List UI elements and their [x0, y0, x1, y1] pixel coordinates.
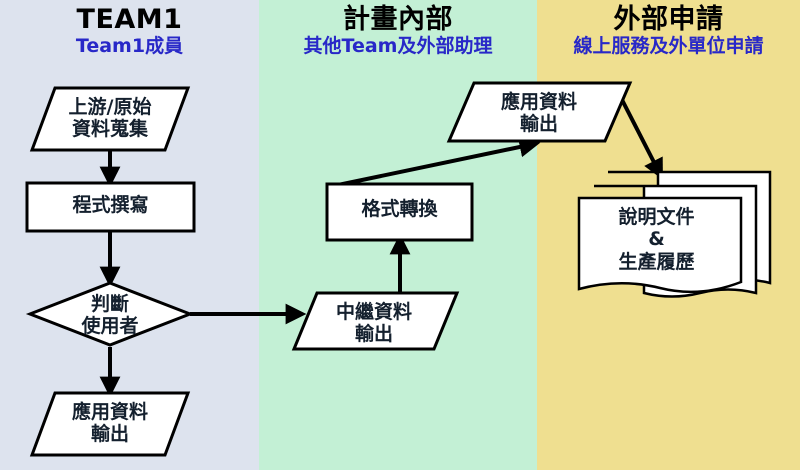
flowchart-canvas: TEAM1 Team1成員 計畫內部 其他Team及外部助理 外部申請 線上服務… [0, 0, 800, 470]
node-shape-doc-stack-front[interactable] [579, 198, 741, 292]
node-shape-source-data[interactable] [32, 88, 188, 150]
node-shape-app-data-out-top[interactable] [449, 83, 630, 141]
node-shape-judge-user[interactable] [30, 283, 190, 345]
node-shape-relay-data-out[interactable] [294, 293, 457, 349]
flowchart-graphics [0, 0, 800, 470]
node-shape-app-data-out-left[interactable] [32, 393, 188, 455]
node-shape-program-writing[interactable] [27, 183, 194, 231]
node-shape-format-convert[interactable] [327, 184, 472, 240]
connector-format-to-appdata-top [338, 144, 534, 185]
connector-appdata-top-to-docstack [617, 90, 660, 174]
